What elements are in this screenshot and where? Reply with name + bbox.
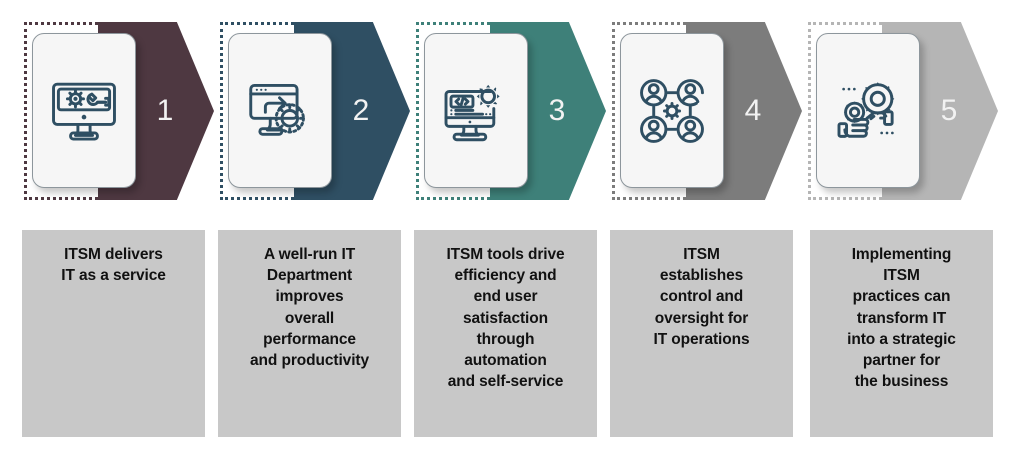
step-1-icon-card bbox=[32, 33, 136, 188]
panel-step-1: ITSM delivers IT as a service bbox=[22, 230, 205, 437]
step-5: 5 bbox=[802, 18, 998, 204]
panel-step-5-text: Implementing ITSM practices can transfor… bbox=[816, 244, 987, 393]
step-5-icon-card bbox=[816, 33, 920, 188]
step-3-icon-card bbox=[424, 33, 528, 188]
monitor-arrow-gear-icon bbox=[241, 72, 319, 150]
panel-step-1-text: ITSM delivers IT as a service bbox=[28, 244, 199, 286]
hands-gears-icon bbox=[829, 72, 907, 150]
step-4-icon-card bbox=[620, 33, 724, 188]
monitor-gear-wrench-icon bbox=[45, 72, 123, 150]
step-3: 3 bbox=[410, 18, 606, 204]
panel-step-4-text: ITSM establishes control and oversight f… bbox=[616, 244, 787, 350]
steps-row: 1 bbox=[0, 0, 1024, 222]
step-2-icon-card bbox=[228, 33, 332, 188]
panel-step-2: A well-run IT Department improves overal… bbox=[218, 230, 401, 437]
panel-step-3: ITSM tools drive efficiency and end user… bbox=[414, 230, 597, 437]
panel-step-5: Implementing ITSM practices can transfor… bbox=[810, 230, 993, 437]
users-network-gear-icon bbox=[633, 72, 711, 150]
step-1: 1 bbox=[18, 18, 214, 204]
step-4: 4 bbox=[606, 18, 802, 204]
itsm-benefits-infographic: 1 bbox=[0, 0, 1024, 463]
step-2: 2 bbox=[214, 18, 410, 204]
panel-step-4: ITSM establishes control and oversight f… bbox=[610, 230, 793, 437]
monitor-code-gear-icon bbox=[437, 72, 515, 150]
panel-step-2-text: A well-run IT Department improves overal… bbox=[224, 244, 395, 371]
panel-step-3-text: ITSM tools drive efficiency and end user… bbox=[420, 244, 591, 393]
panels-row: ITSM delivers IT as a service A well-run… bbox=[0, 230, 1024, 437]
